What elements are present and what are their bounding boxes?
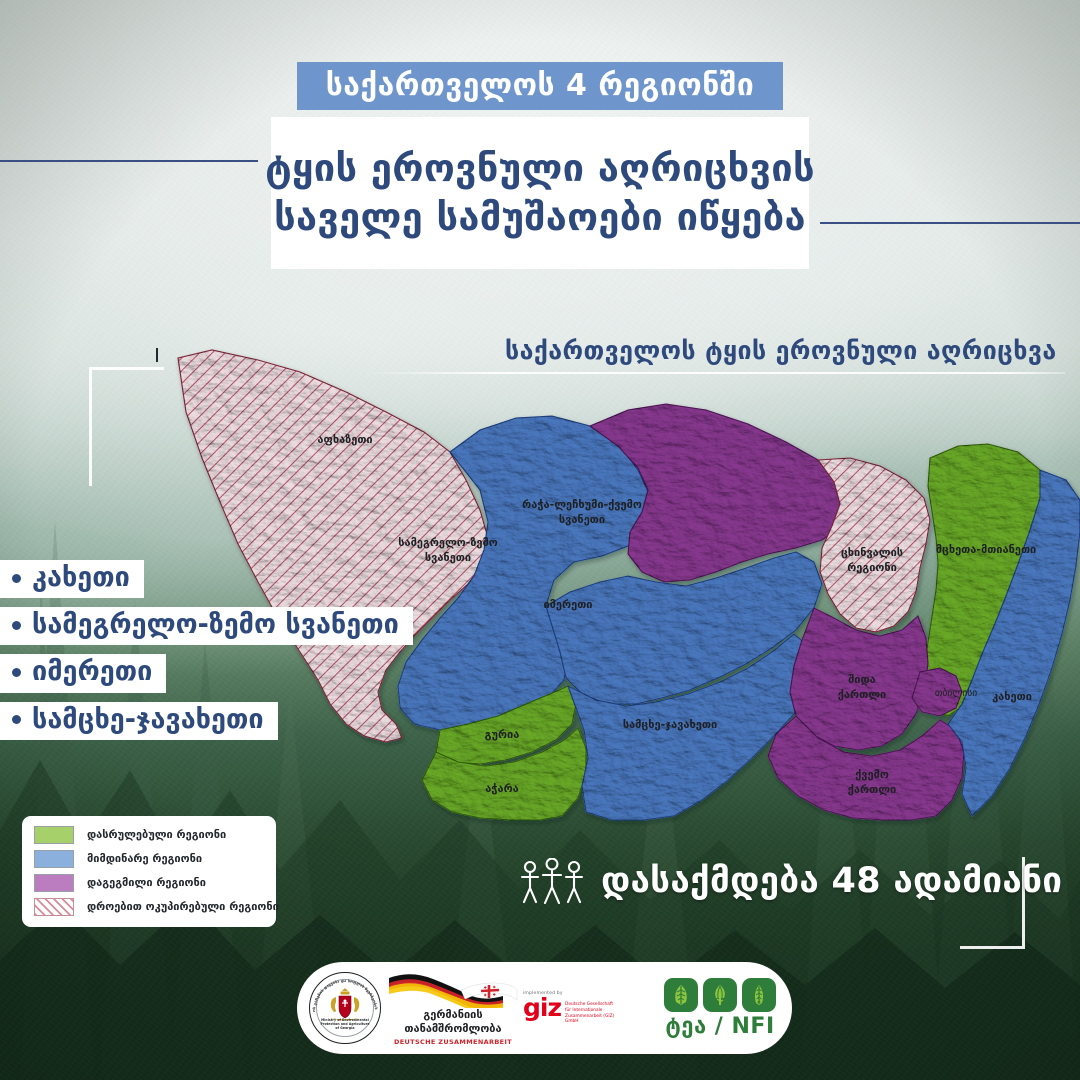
- map-label-tbilisi: თბილისი: [935, 688, 977, 699]
- legend-label: დაგეგმილი რეგიონი: [87, 877, 206, 889]
- target-regions-list: კახეთი სამეგრელო-ზემო სვანეთი იმერეთი სა…: [0, 560, 413, 749]
- bullet-dot-icon: [12, 574, 21, 583]
- map-label-imereti: იმერეთი: [543, 598, 592, 611]
- bullet-dot-icon: [12, 715, 21, 724]
- tree-icon: [703, 978, 737, 1012]
- region-tskhinvalis-regioni: [818, 458, 930, 632]
- bullet-dot-icon: [12, 668, 21, 677]
- german-coop-line1: გერმანიის: [387, 1009, 519, 1021]
- german-cooperation-logo: გერმანიის თანამშრომლობა DEUTSCHE ZUSAMME…: [387, 970, 519, 1046]
- header-rule-right: [820, 222, 1080, 224]
- leaf-icon-svg: [669, 983, 693, 1007]
- leaf-vein-icon: [742, 978, 776, 1012]
- title-line-1: ტყის ეროვნული აღრიცხვის: [265, 147, 815, 190]
- seal-text-line3: of Georgia: [309, 1027, 381, 1031]
- map-label-abkhazeti: აფხაზეთი: [317, 433, 372, 446]
- map-label-shida-kartli-line1: შიდა: [848, 673, 876, 686]
- tree-icon-svg: [708, 983, 732, 1007]
- nfi-icon-group: [664, 978, 776, 1012]
- giz-logo: implemented by giz Deutsche Gesellschaft…: [523, 991, 619, 1024]
- list-item-label: სამეგრელო-ზემო სვანეთი: [32, 610, 399, 640]
- legend-item-ongoing: მიმდინარე რეგიონი: [34, 850, 264, 868]
- list-item-label: იმერეთი: [32, 657, 152, 687]
- kicker-banner: საქართველოს 4 რეგიონში: [297, 62, 783, 110]
- seal-text-en: Ministry of Environmental Protection and…: [309, 1019, 381, 1031]
- map-label-shida-kartli-line2: ქართლი: [838, 688, 886, 701]
- list-item-label: სამცხე-ჯავახეთი: [32, 705, 264, 735]
- nfi-logo: ტეა / NFI: [664, 978, 776, 1039]
- map-label-tskhinvali-line2: რეგიონი: [847, 561, 897, 574]
- three-people-icon: [519, 858, 585, 904]
- footer-logo-bar: საქართველოს გარემოს დაცვისა და სოფლის მე…: [297, 962, 792, 1054]
- list-item: სამეგრელო-ზემო სვანეთი: [0, 607, 413, 645]
- seal-arc-text-svg: საქართველოს გარემოს დაცვისა და სოფლის მე…: [309, 972, 381, 1044]
- title-box: ტყის ეროვნული აღრიცხვის საველე სამუშაოებ…: [271, 117, 809, 269]
- title-line-2: საველე სამუშაოები იწყება: [274, 196, 806, 239]
- giz-subtext-line3: Zusammenarbeit (GIZ) GmbH: [565, 1014, 619, 1025]
- legend-swatch-green: [34, 826, 74, 844]
- coat-of-arms-icon: [331, 988, 360, 1021]
- giz-wordmark: giz: [523, 997, 561, 1018]
- legend-label: მიმდინარე რეგიონი: [87, 853, 202, 865]
- nfi-label: ტეა / NFI: [664, 1014, 776, 1039]
- map-label-kvemo-kartli-line2: ქართლი: [848, 783, 896, 796]
- map-label-racha-line2: სვანეთი: [559, 513, 605, 526]
- german-coop-subtitle: DEUTSCHE ZUSAMMENARBEIT: [387, 1038, 519, 1046]
- people-icon-svg: [519, 858, 585, 904]
- map-label-guria: გურია: [485, 728, 520, 741]
- german-coop-line2: თანამშრომლობა: [387, 1023, 519, 1035]
- list-item: სამცხე-ჯავახეთი: [0, 702, 278, 740]
- leaf-icon: [664, 978, 698, 1012]
- legend-label: დროებით ოკუპირებული რეგიონი: [87, 901, 279, 913]
- flag-ribbon-icon: [387, 970, 519, 1008]
- legend-label: დასრულებული რეგიონი: [87, 829, 226, 841]
- map-label-achara: აჭარა: [485, 782, 519, 795]
- header-rule-left: [0, 160, 258, 162]
- employment-stat-text: დასაქმდება 48 ადამიანი: [601, 861, 1062, 901]
- legend-swatch-hatched: [34, 898, 74, 916]
- kicker-text: საქართველოს 4 რეგიონში: [326, 71, 755, 101]
- map-label-samegrelo-line2: სვანეთი: [425, 551, 471, 564]
- map-label-racha-line1: რაჭა-ლეჩხუმი-ქვემო: [522, 498, 642, 511]
- legend-swatch-purple: [34, 874, 74, 892]
- list-item: კახეთი: [0, 560, 144, 598]
- map-label-mtskheta-mtianeti: მცხეთა-მთიანეთი: [936, 543, 1037, 556]
- ministry-seal-logo: საქართველოს გარემოს დაცვისა და სოფლის მე…: [309, 972, 381, 1044]
- employment-stat: დასაქმდება 48 ადამიანი: [519, 858, 1062, 904]
- map-label-tskhinvali-line1: ცხინვალის: [841, 546, 903, 559]
- legend-swatch-blue: [34, 850, 74, 868]
- legend-item-completed: დასრულებული რეგიონი: [34, 826, 264, 844]
- poster-root: საქართველოს 4 რეგიონში ტყის ეროვნული აღრ…: [0, 0, 1080, 1080]
- list-item-label: კახეთი: [32, 563, 130, 593]
- map-label-samegrelo-line1: სამეგრელო-ზემო: [398, 536, 497, 549]
- bullet-dot-icon: [12, 621, 21, 630]
- giz-subtext: Deutsche Gesellschaft für Internationale…: [565, 997, 619, 1024]
- legend-item-planned: დაგეგმილი რეგიონი: [34, 874, 264, 892]
- map-label-kakheti: კახეთი: [992, 690, 1032, 703]
- map-legend: დასრულებული რეგიონი მიმდინარე რეგიონი და…: [22, 816, 276, 927]
- map-label-kvemo-kartli-line1: ქვემო: [855, 768, 889, 781]
- leaf-vein-icon-svg: [747, 983, 771, 1007]
- list-item: იმერეთი: [0, 654, 166, 692]
- legend-item-occupied: დროებით ოკუპირებული რეგიონი: [34, 898, 264, 916]
- map-label-samtskhe-javakheti: სამცხე-ჯავახეთი: [623, 718, 717, 731]
